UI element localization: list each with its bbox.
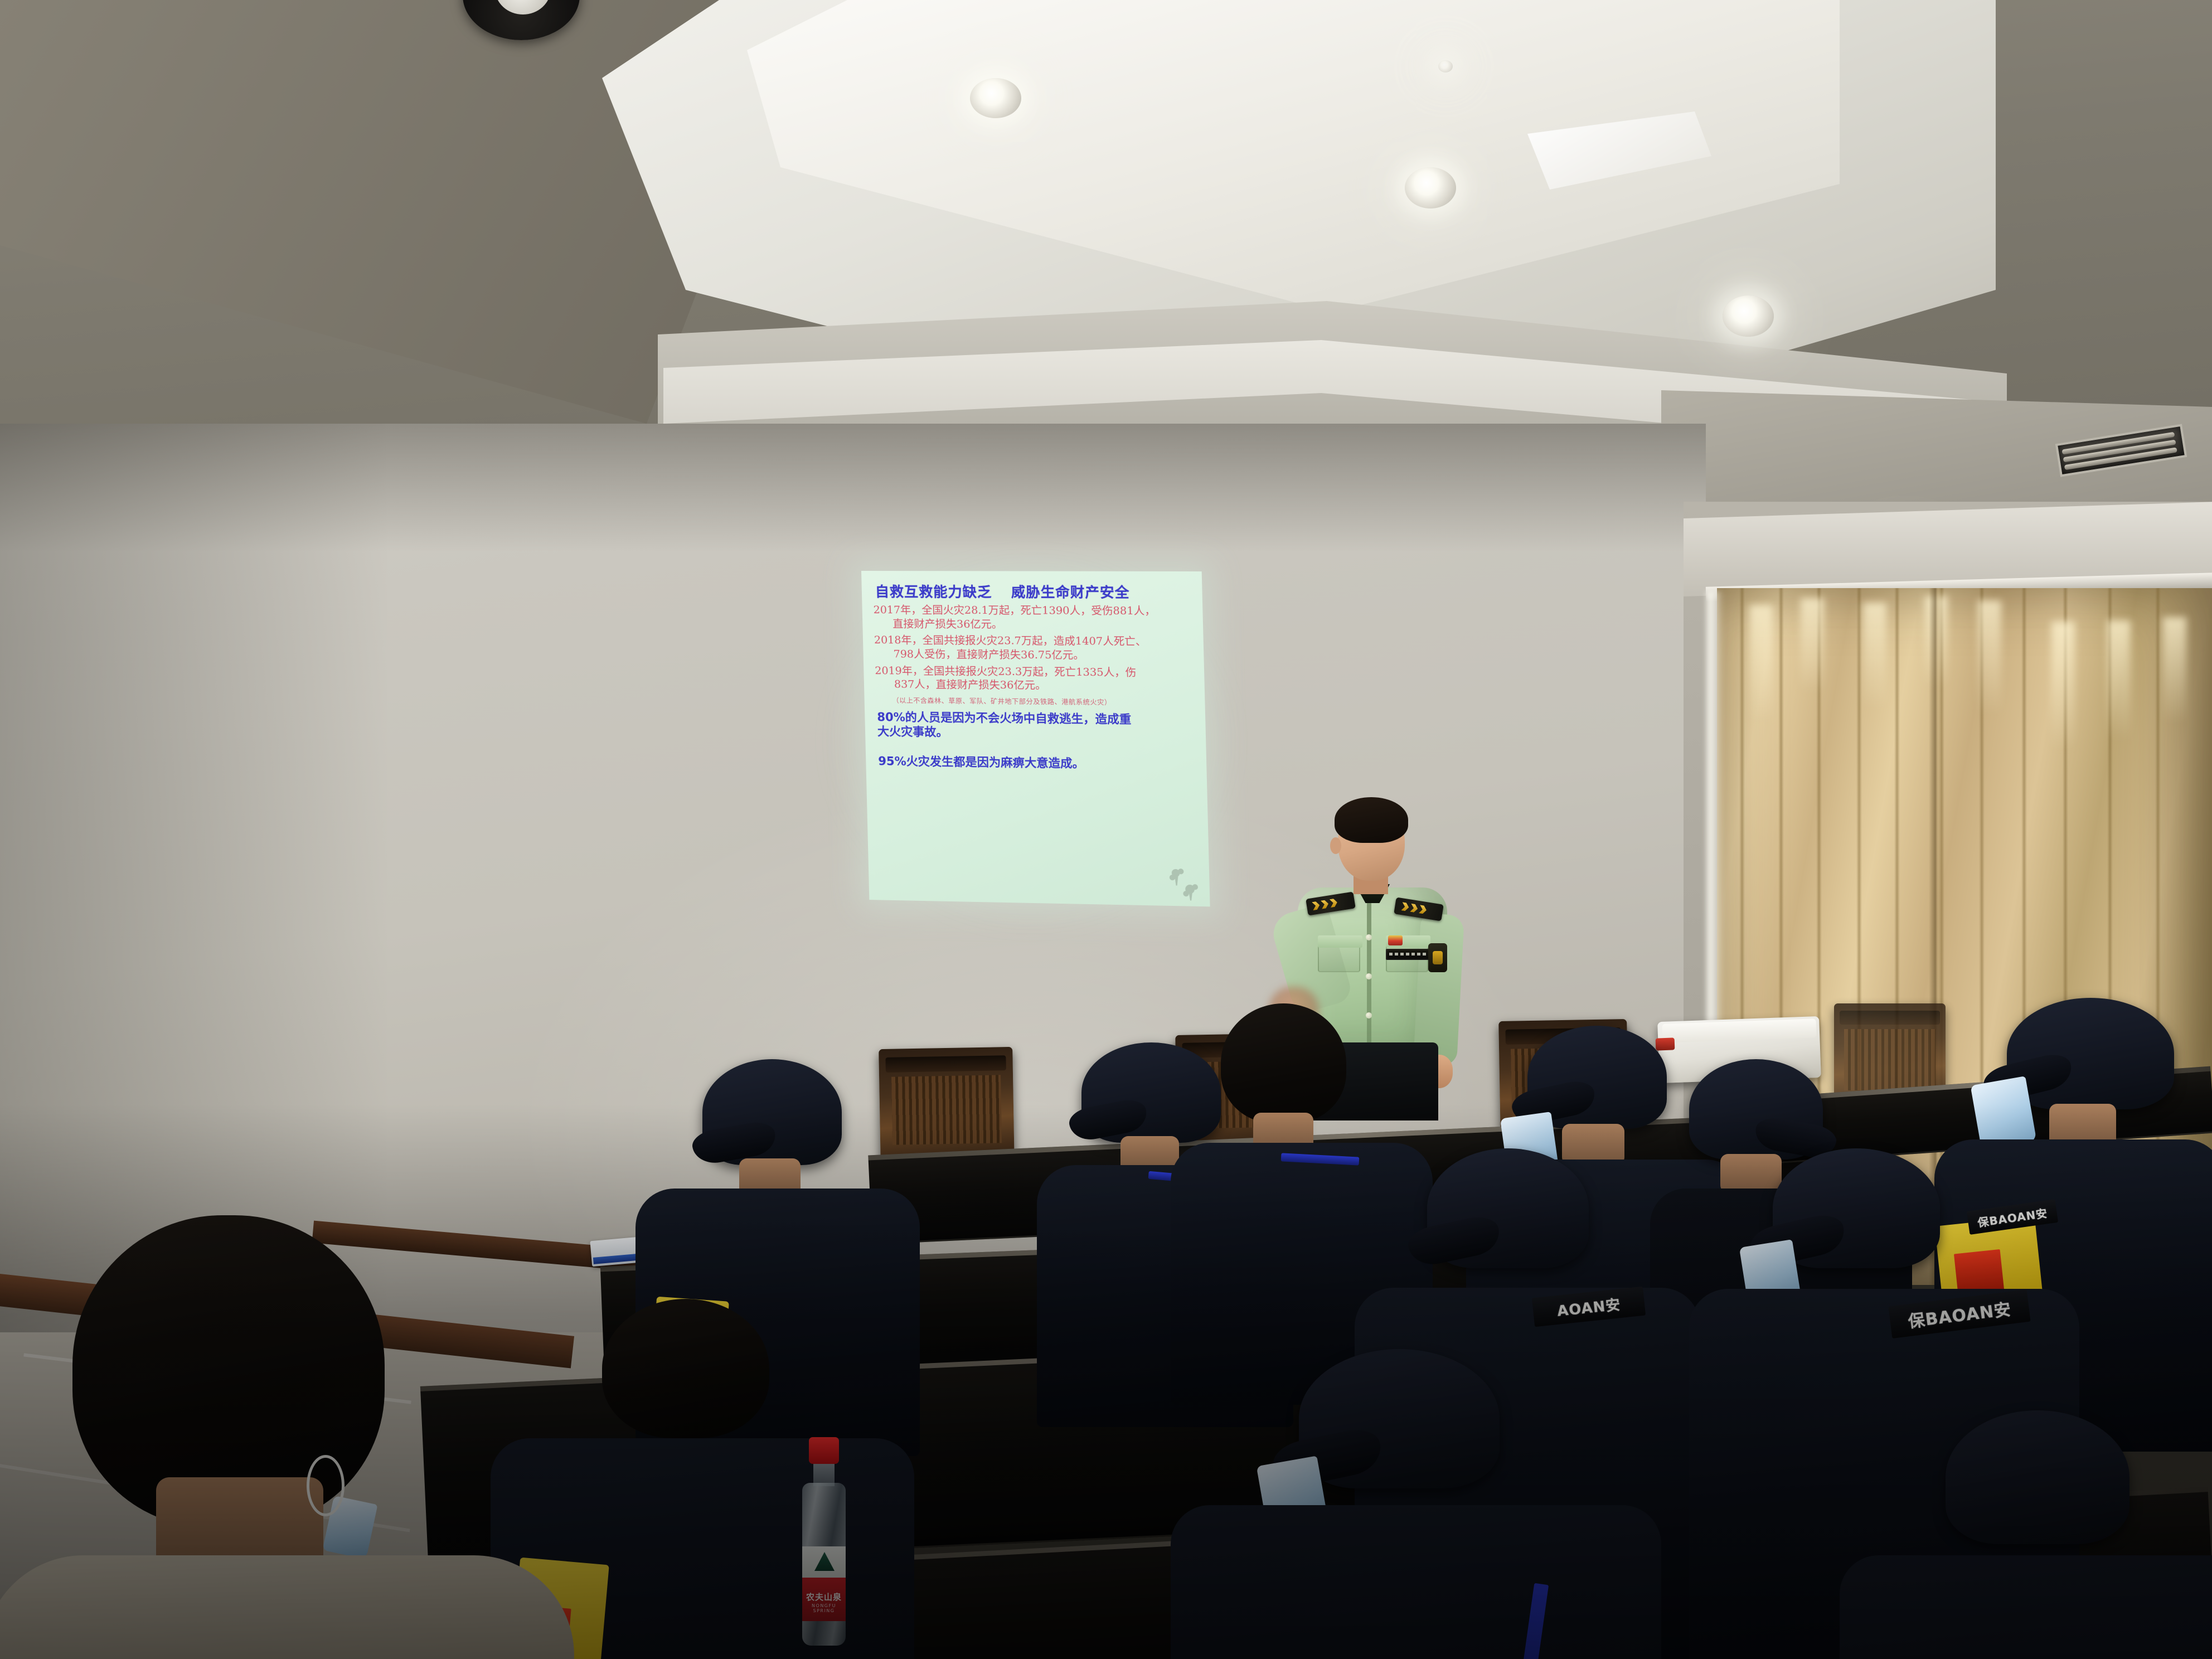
presenter-left-pocket [1318,935,1360,972]
downlight-1 [970,78,1021,118]
water-bottle: 农夫山泉 NONGFU SPRING [800,1437,848,1649]
presenter-ear [1330,837,1341,854]
slide-highlight-95: 95%火灾发生都是因为麻痹大意造成。 [878,754,1194,772]
slide-highlight-95-line1: 95%火灾发生都是因为麻痹大意造成。 [878,754,1084,770]
shirt-button [1366,934,1372,940]
slide-highlight-80-line1: 80%的人员是因为不会火场中自救逃生，造成重 [877,710,1131,726]
presenter-badge-icon [1388,935,1403,945]
bottle-neck [813,1462,835,1486]
presenter-shoulder-patch-icon [1428,943,1447,972]
slide-stat-2017: 2017年，全国火灾28.1万起，死亡1390人，受伤881人， 直接财产损失3… [873,603,1190,632]
equipment-case-latch [1656,1037,1675,1050]
slide-highlight-80-line2: 大火灾事故。 [877,725,1194,743]
chair [879,1047,1015,1166]
slide-stat-2017-line2: 直接财产损失36亿元。 [874,617,1191,633]
slide-stat-2018: 2018年，全国共接报火灾23.7万起，造成1407人死亡、 798人受伤，直接… [874,633,1191,663]
projected-slide: 自救互救能力缺乏威胁生命财产安全 2017年，全国火灾28.1万起，死亡1390… [861,571,1210,906]
bottle-cap [809,1437,839,1464]
slide-title-part1: 自救互救能力缺乏 [875,584,992,600]
slide-title: 自救互救能力缺乏威胁生命财产安全 [875,581,1190,602]
downlight-3 [1723,295,1774,337]
slide-title-part2: 威胁生命财产安全 [1011,584,1129,601]
presenter-hair [1335,797,1408,843]
slide-stat-2019-line1: 2019年，全国共接报火灾23.3万起，死亡1335人，伤 [875,664,1136,679]
training-room-photo: 自救互救能力缺乏威胁生命财产安全 2017年，全国火灾28.1万起，死亡1390… [0,0,2212,1659]
slide-stat-2018-line1: 2018年，全国共接报火灾23.7万起，造成1407人死亡、 [874,634,1147,648]
presenter-nametag [1386,949,1434,960]
mask-ear-loop [307,1455,345,1516]
shirt-button [1366,1012,1372,1018]
shirt-button [1366,973,1372,979]
torso [1171,1505,1661,1659]
bottle-brand-cn: 农夫山泉 [802,1591,846,1603]
bottle-brand-en: NONGFU SPRING [802,1603,846,1613]
slide-watermark-icon [1165,866,1201,902]
slide-highlight-80: 80%的人员是因为不会火场中自救逃生，造成重 大火灾事故。 [877,710,1193,743]
black-cap [1946,1410,2129,1544]
slide-stat-2017-line1: 2017年，全国火灾28.1万起，死亡1390人，受伤881人， [873,604,1156,617]
neck [1720,1154,1782,1193]
neck [1562,1124,1624,1165]
sweater [0,1555,574,1659]
downlight-2 [1405,167,1456,208]
downlight-5 [1438,60,1453,72]
slide-stat-2019-line2: 837人，直接财产损失36亿元。 [875,678,1192,695]
torso [1840,1555,2212,1659]
head [602,1299,769,1438]
slide-stat-2018-line2: 798人受伤，直接财产损失36.75亿元。 [874,647,1191,663]
slide-stat-2019: 2019年，全国共接报火灾23.3万起，死亡1335人，伤 837人，直接财产损… [875,664,1192,694]
slide-footnote: （以上不含森林、草原、军队、矿井地下部分及铁路、港航系统火灾） [892,696,1192,708]
head [1221,1003,1346,1123]
